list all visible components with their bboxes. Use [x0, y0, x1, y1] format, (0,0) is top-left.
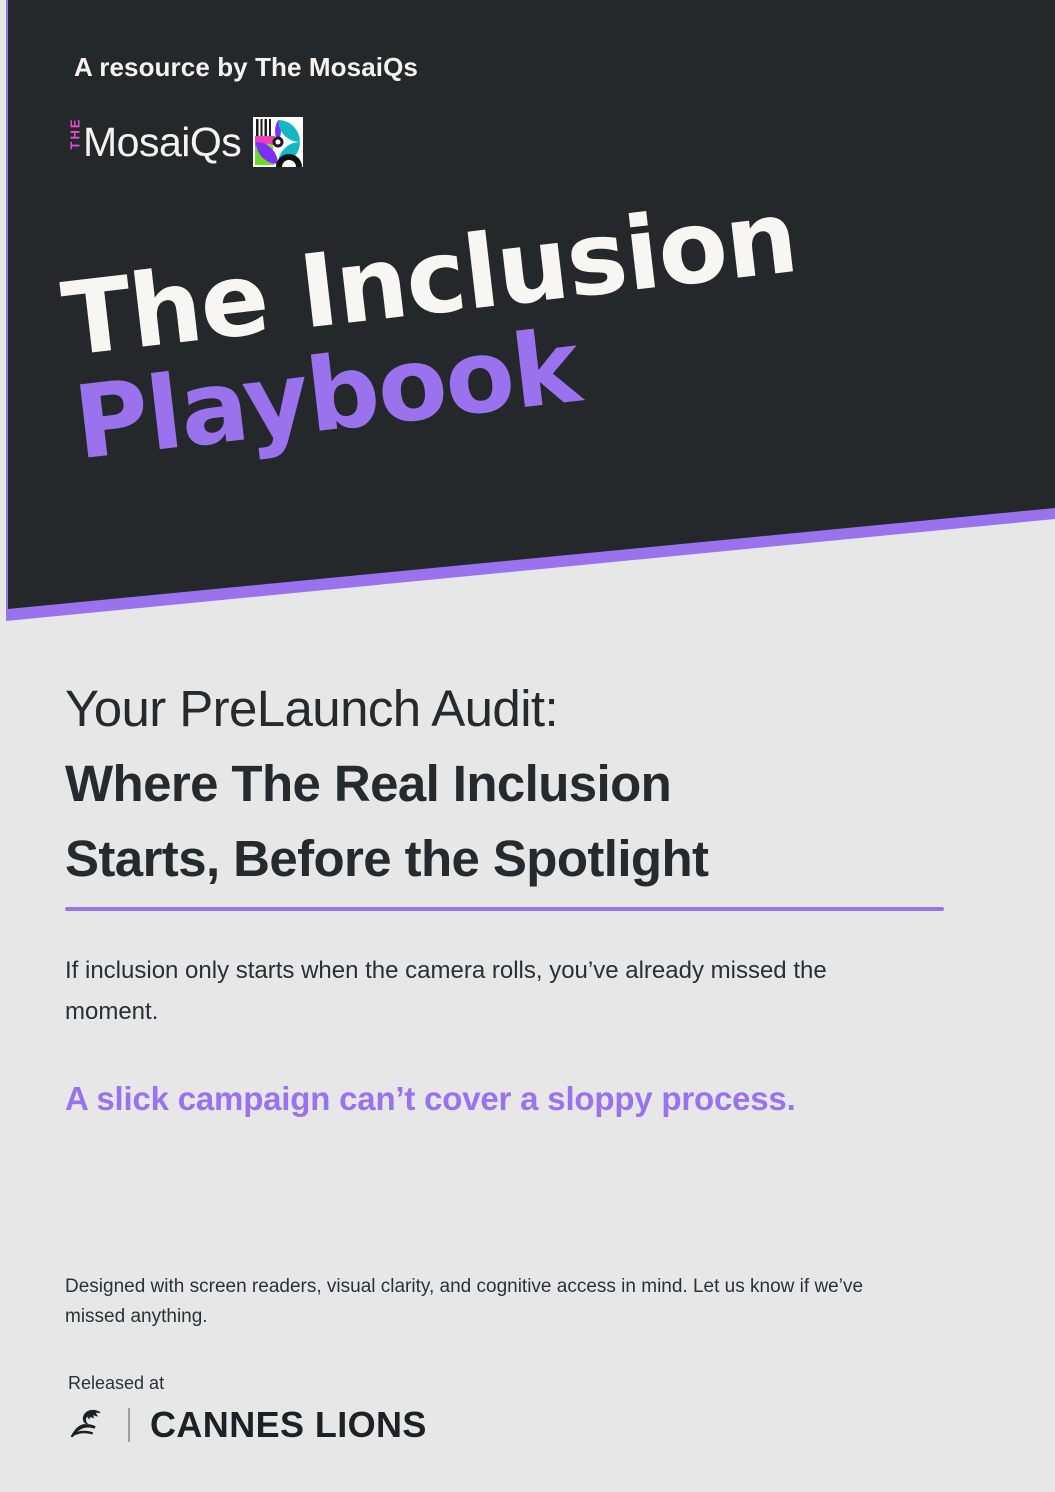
mosaiqs-logo-mark-icon — [253, 117, 303, 167]
brand-logo[interactable]: THE MosaiQs — [68, 114, 303, 170]
cannes-lions-lockup[interactable]: CANNES LIONS — [68, 1401, 427, 1449]
brand-the-label: THE — [69, 135, 82, 149]
released-at-label: Released at — [68, 1373, 164, 1394]
poster-page: A resource by The MosaiQs THE MosaiQs — [0, 0, 1055, 1492]
brand-wordmark: MosaiQs — [83, 122, 241, 163]
headline-line-3: Starts, Before the Spotlight — [65, 822, 985, 897]
headline-line-1: Your PreLaunch Audit: — [65, 672, 985, 747]
cannes-lion-icon — [68, 1403, 110, 1447]
page-headline: Your PreLaunch Audit: Where The Real Inc… — [65, 672, 985, 897]
pullquote-text: A slick campaign can’t cover a sloppy pr… — [65, 1065, 825, 1133]
lede-paragraph: If inclusion only starts when the camera… — [65, 950, 895, 1033]
cannes-divider — [128, 1408, 130, 1442]
headline-underline-rule — [65, 907, 944, 911]
headline-line-2: Where The Real Inclusion — [65, 747, 985, 822]
cannes-lions-wordmark: CANNES LIONS — [150, 1407, 427, 1443]
accessibility-note: Designed with screen readers, visual cla… — [65, 1272, 895, 1332]
resource-kicker: A resource by The MosaiQs — [74, 52, 418, 83]
